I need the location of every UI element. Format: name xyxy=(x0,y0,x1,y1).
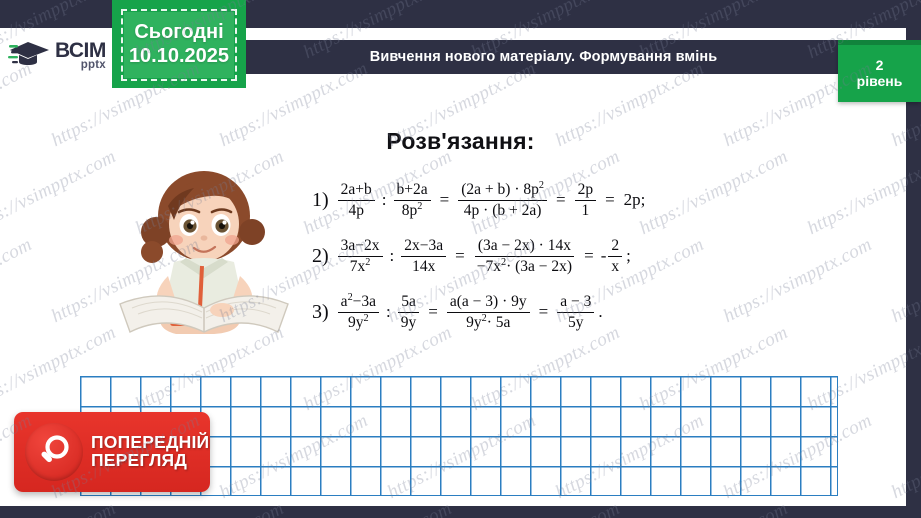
today-date-tab: Сьогодні 10.10.2025 xyxy=(112,0,246,88)
fraction-numerator: a2−3a xyxy=(338,293,379,312)
row-result: 2p; xyxy=(624,190,646,210)
slide-root: ВСІМ pptx Сьогодні 10.10.2025 Вивчення н… xyxy=(0,0,921,518)
fraction-numerator: a(a − 3) · 9y xyxy=(447,293,530,312)
den-base: −7x xyxy=(477,258,501,275)
fraction-numerator: (2a + b) · 8p2 xyxy=(458,181,547,200)
row-result: . xyxy=(598,302,602,322)
fraction-denominator: 7x2 xyxy=(347,257,374,275)
den-exponent: 2 xyxy=(365,256,370,267)
num-exponent: 2 xyxy=(539,180,544,191)
solution-math-block: 1) 2a+b 4p : b+2a 8p2 = (2a + b) · 8p2 4… xyxy=(312,172,832,340)
math-row: 1) 2a+b 4p : b+2a 8p2 = (2a + b) · 8p2 4… xyxy=(312,172,832,228)
fraction-3: (2a + b) · 8p2 4p · (b + 2a) xyxy=(458,181,547,219)
fraction-denominator: 1 xyxy=(578,201,592,219)
fraction-numerator: b+2a xyxy=(394,181,431,200)
den-base: 8p xyxy=(402,202,418,219)
row-number: 1) xyxy=(312,189,329,212)
level-number: 2 xyxy=(876,58,884,73)
header-bar: Вивчення нового матеріалу. Формування вм… xyxy=(246,40,841,74)
level-word: рівень xyxy=(857,74,903,89)
operator-equals-2: = xyxy=(556,190,566,210)
operator-equals: = xyxy=(428,302,438,322)
den-exponent: 2 xyxy=(364,312,369,323)
fraction-denominator: −7x2· (3a − 2x) xyxy=(474,257,575,275)
negative-sign: - xyxy=(601,246,607,266)
fraction-2: 2x−3a 14x xyxy=(401,237,446,275)
header-title: Вивчення нового матеріалу. Формування вм… xyxy=(370,49,718,65)
fraction-numerator: 2a+b xyxy=(338,181,375,200)
den-base: 9y xyxy=(348,314,364,331)
fraction-denominator: 8p2 xyxy=(399,201,426,219)
operator-equals-2: = xyxy=(584,246,594,266)
num-base: a xyxy=(341,293,348,310)
operator-divide: : xyxy=(390,246,395,266)
preview-button[interactable]: ПОПЕРЕДНІЙ ПЕРЕГЛЯД xyxy=(14,412,210,492)
logo-text: ВСІМ pptx xyxy=(55,41,106,71)
page-title: Розв'язання: xyxy=(0,128,921,155)
today-date: 10.10.2025 xyxy=(129,45,229,68)
den-base: 7x xyxy=(350,258,366,275)
fraction-2: b+2a 8p2 xyxy=(394,181,431,219)
fraction-3: a(a − 3) · 9y 9y2· 5a xyxy=(447,293,530,331)
operator-divide: : xyxy=(386,302,391,322)
fraction-numerator: (3a − 2x) · 14x xyxy=(475,237,574,256)
fraction-denominator: 4p · (b + 2a) xyxy=(461,201,545,219)
level-badge: 2 рівень xyxy=(838,45,921,102)
girl-reading-book-illustration xyxy=(118,158,290,348)
den-base: 9y xyxy=(466,314,482,331)
logo-title: ВСІМ xyxy=(55,41,106,60)
fraction-1: 2a+b 4p xyxy=(338,181,375,219)
math-row: 2) 3a−2x 7x2 : 2x−3a 14x = (3a − 2x) · 1… xyxy=(312,228,832,284)
operator-divide: : xyxy=(382,190,387,210)
logo-subtitle: pptx xyxy=(55,60,106,71)
fraction-numerator: 3a−2x xyxy=(338,237,383,256)
fraction-numerator: 2x−3a xyxy=(401,237,446,256)
fraction-denominator: x xyxy=(608,257,622,275)
graduation-cap-icon xyxy=(8,38,52,74)
fraction-1: a2−3a 9y2 xyxy=(338,293,379,331)
den-rest: · 5a xyxy=(487,314,511,331)
fraction-denominator: 9y xyxy=(398,313,420,331)
math-row: 3) a2−3a 9y2 : 5a 9y = a(a − 3) · 9y 9y2… xyxy=(312,284,832,340)
fraction-1: 3a−2x 7x2 xyxy=(338,237,383,275)
row-number: 2) xyxy=(312,245,329,268)
fraction-3: (3a − 2x) · 14x −7x2· (3a − 2x) xyxy=(474,237,575,275)
today-label: Сьогодні xyxy=(134,21,223,44)
den-rest: · (3a − 2x) xyxy=(506,258,572,275)
operator-equals: = xyxy=(455,246,465,266)
operator-equals-3: = xyxy=(605,190,615,210)
num-rest: −3a xyxy=(353,293,376,310)
fraction-denominator: 5y xyxy=(565,313,587,331)
magnifier-icon xyxy=(25,423,83,481)
fraction-denominator: 9y2· 5a xyxy=(463,313,513,331)
fraction-denominator: 14x xyxy=(409,257,438,275)
brand-logo: ВСІМ pptx xyxy=(8,33,112,79)
row-number: 3) xyxy=(312,301,329,324)
fraction-denominator: 9y2 xyxy=(345,313,372,331)
fraction-2: 5a 9y xyxy=(398,293,420,331)
fraction-numerator: 2 xyxy=(608,237,622,256)
den-exponent: 2 xyxy=(417,200,422,211)
num-base: (2a + b) · 8p xyxy=(461,181,539,198)
fraction-4: a − 3 5y xyxy=(557,293,594,331)
fraction-4: 2 x xyxy=(608,237,622,275)
fraction-numerator: a − 3 xyxy=(557,293,594,312)
row-result: ; xyxy=(626,246,631,266)
operator-equals: = xyxy=(440,190,450,210)
operator-equals-2: = xyxy=(539,302,549,322)
fraction-denominator: 4p xyxy=(345,201,367,219)
fraction-4: 2p 1 xyxy=(575,181,597,219)
fraction-numerator: 5a xyxy=(398,293,419,312)
preview-line-2: ПЕРЕГЛЯД xyxy=(91,452,209,470)
preview-button-text: ПОПЕРЕДНІЙ ПЕРЕГЛЯД xyxy=(91,434,209,470)
fraction-numerator: 2p xyxy=(575,181,597,200)
